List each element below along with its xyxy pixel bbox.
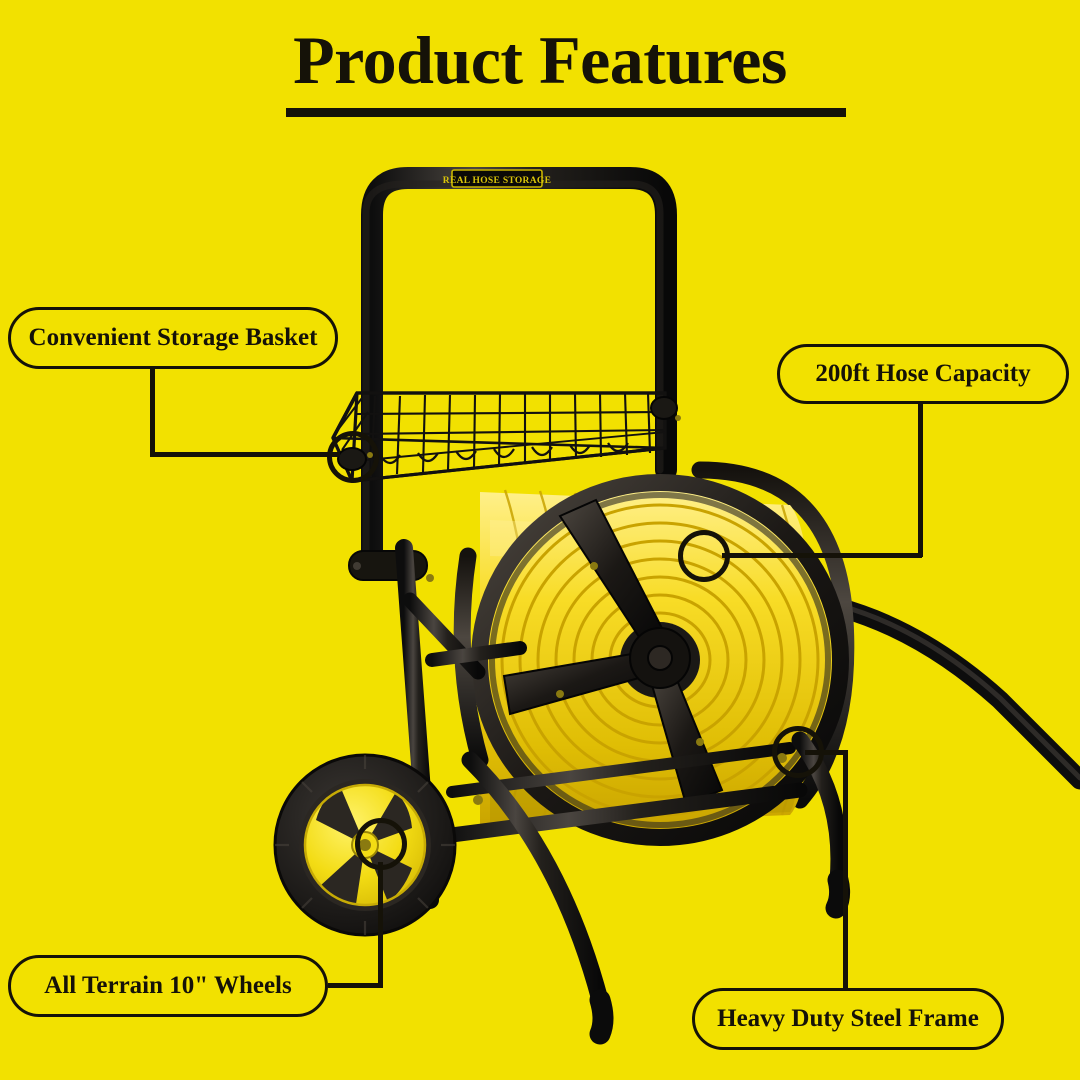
leader-line-hose-vertical (918, 404, 923, 557)
leader-line-frame-vertical (843, 750, 848, 990)
callout-label-storage-basket: Convenient Storage Basket (29, 324, 318, 352)
callout-label-wheels: All Terrain 10" Wheels (44, 972, 291, 1000)
leader-line-basket-vertical (150, 369, 155, 455)
brand-plate-text: REAL HOSE STORAGE (443, 176, 551, 186)
callout-steel-frame[interactable]: Heavy Duty Steel Frame (692, 988, 1004, 1050)
infographic-canvas: Product Features (0, 0, 1080, 1080)
callout-label-steel-frame: Heavy Duty Steel Frame (717, 1005, 979, 1033)
callout-storage-basket[interactable]: Convenient Storage Basket (8, 307, 338, 369)
marker-ring-hose (678, 530, 730, 582)
leader-line-wheel-vertical (378, 862, 383, 986)
leader-line-wheel-horizontal (328, 983, 383, 988)
callout-hose-capacity[interactable]: 200ft Hose Capacity (777, 344, 1069, 404)
marker-ring-basket (327, 431, 379, 483)
storage-basket (333, 393, 681, 481)
callout-label-hose-capacity: 200ft Hose Capacity (815, 360, 1030, 388)
leader-line-frame-horizontal (805, 750, 848, 755)
leader-line-basket-horizontal (150, 452, 340, 457)
brand-plate: REAL HOSE STORAGE (443, 170, 551, 187)
callout-wheels[interactable]: All Terrain 10" Wheels (8, 955, 328, 1017)
leader-line-hose-horizontal (722, 553, 922, 558)
